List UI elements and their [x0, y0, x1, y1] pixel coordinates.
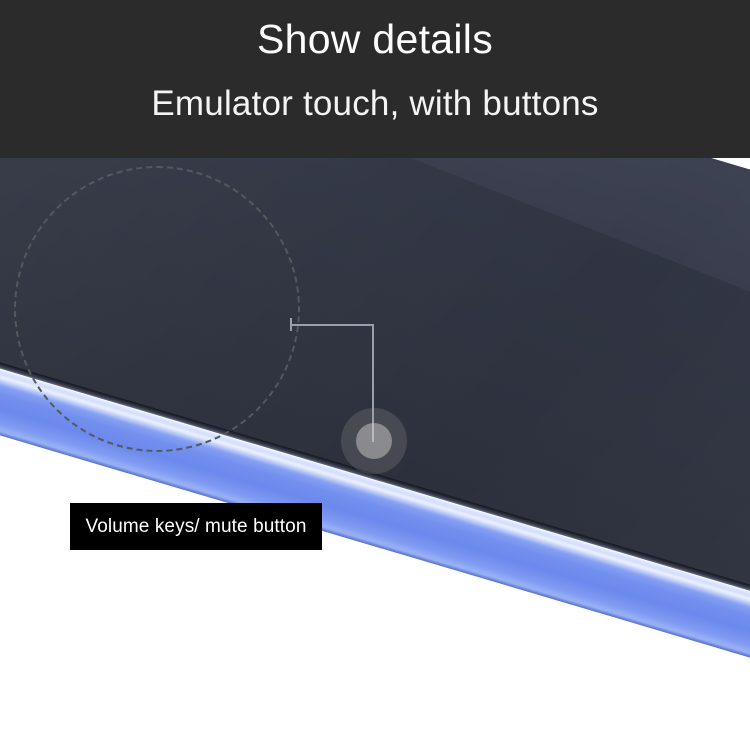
touch-indicator-inner [356, 423, 392, 459]
page-subtitle: Emulator touch, with buttons [0, 82, 750, 126]
caption-badge-label: Volume keys/ mute button [85, 516, 306, 538]
screenshot-root: Show details Emulator touch, with button… [0, 0, 750, 750]
product-photo [0, 158, 750, 750]
header-banner: Show details Emulator touch, with button… [0, 0, 750, 158]
leader-line-horizontal [290, 324, 374, 326]
page-title: Show details [0, 14, 750, 64]
caption-badge: Volume keys/ mute button [70, 503, 322, 550]
